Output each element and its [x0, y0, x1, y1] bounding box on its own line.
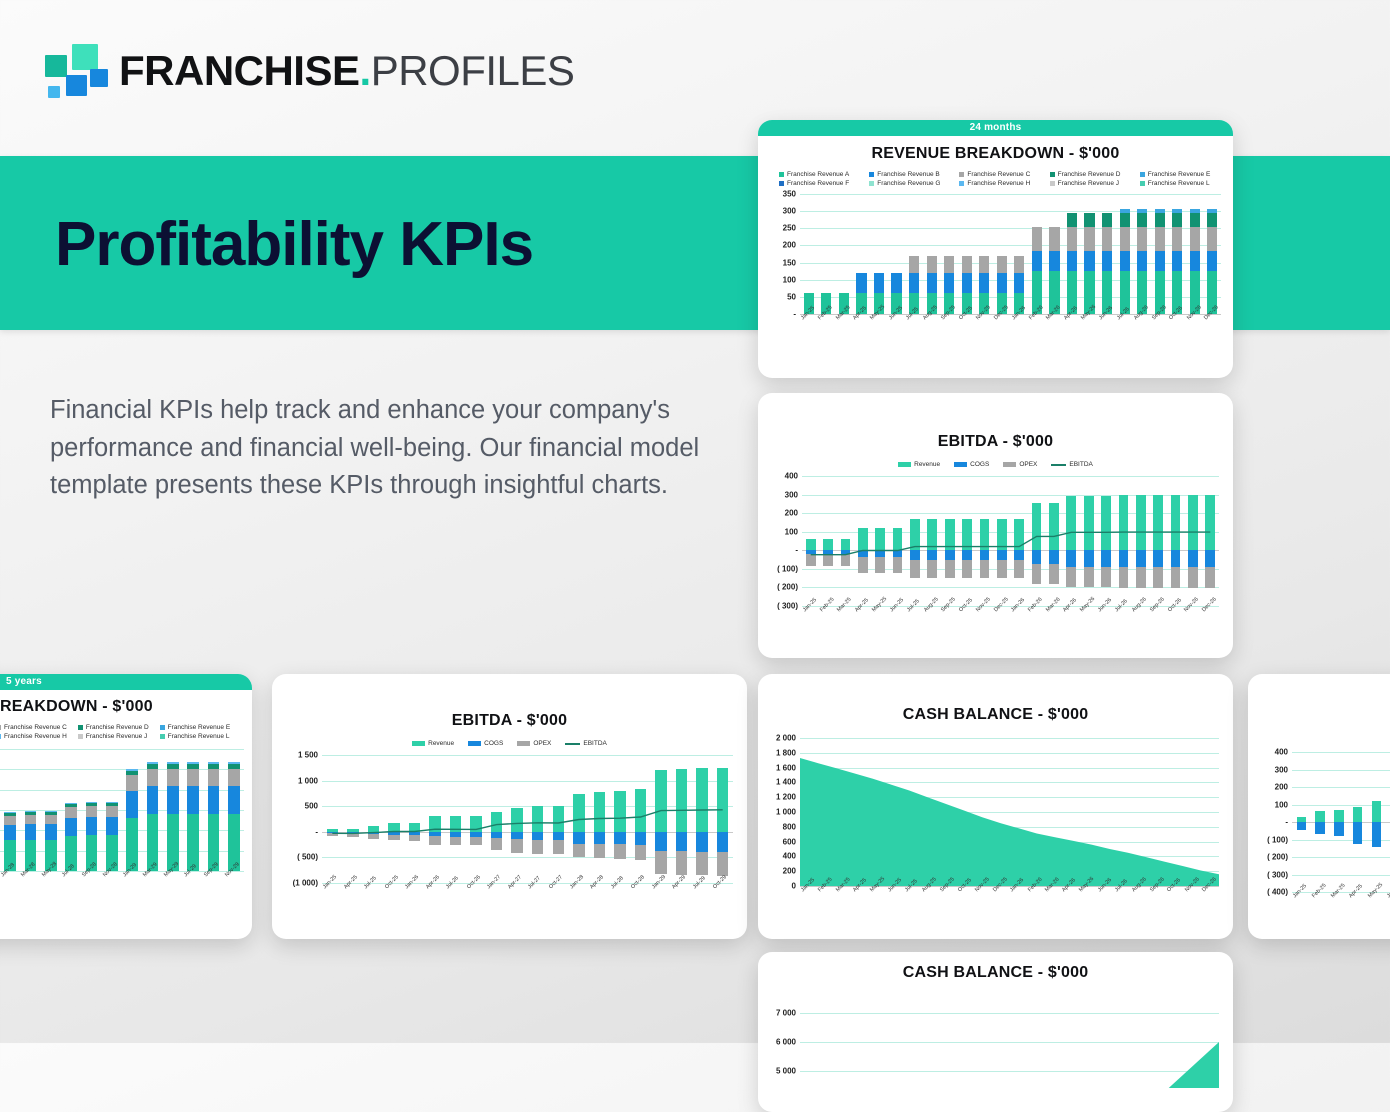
bar-column	[870, 194, 888, 314]
bar-segment	[86, 806, 98, 817]
legend-item: Revenue	[412, 740, 454, 747]
brand-logo: FRANCHISE.PROFILES	[45, 42, 574, 100]
bar-segment	[909, 256, 919, 273]
bar-segment	[167, 769, 179, 786]
bar-segment	[979, 273, 989, 293]
legend-ebitda-24m: RevenueCOGSOPEXEBITDA	[758, 461, 1233, 468]
legend-item: Franchise Revenue E	[1131, 171, 1221, 178]
bar-column	[20, 749, 40, 871]
bar-segment	[909, 273, 919, 293]
card-cash-balance-24m[interactable]: CASH BALANCE - $'000 02004006008001 0001…	[758, 674, 1233, 939]
y-axis-tick-label: 250	[783, 224, 796, 233]
legend-swatch-icon	[1140, 181, 1145, 186]
bar-segment	[1172, 213, 1182, 227]
y-axis-tick-label: 400	[1275, 748, 1288, 757]
bar-segment	[1067, 227, 1077, 252]
card-ebitda-5y[interactable]: EBITDA - $'000 RevenueCOGSOPEXEBITDA (1 …	[272, 674, 747, 939]
logo-squares-icon	[45, 42, 105, 100]
bar-column	[1116, 194, 1134, 314]
brand-name-light: PROFILES	[371, 47, 575, 94]
legend-label: EBITDA	[1069, 461, 1092, 468]
bar-column	[1311, 752, 1330, 892]
y-axis-tick-label: -	[315, 827, 318, 836]
bar-segment	[147, 786, 159, 814]
legend-item: Franchise Revenue C	[950, 171, 1040, 178]
legend-swatch-icon	[869, 172, 874, 177]
y-axis-tick-label: ( 400)	[1267, 888, 1288, 897]
y-axis-tick-label: 300	[785, 490, 798, 499]
legend-label: Franchise Revenue E	[168, 724, 231, 731]
legend-label: COGS	[484, 740, 503, 747]
legend-item: Franchise Revenue D	[1041, 171, 1131, 178]
legend-item: OPEX	[1003, 461, 1037, 468]
legend-swatch-icon	[160, 725, 165, 730]
y-axis-tick-label: 2 000	[776, 734, 796, 743]
x-axis-labels: Jan-25Feb-25Mar-25Apr-25May-25Jun-25Jul-…	[1292, 895, 1390, 901]
y-axis-tick-label: 1 800	[776, 748, 796, 757]
bar-column	[224, 749, 244, 871]
bar-series	[1292, 752, 1390, 892]
legend-item: Franchise Revenue L	[160, 733, 242, 740]
legend-swatch-icon	[898, 462, 911, 467]
legend-label: Franchise Revenue D	[86, 724, 149, 731]
bar-segment	[106, 806, 118, 817]
bar-column	[853, 194, 871, 314]
legend-swatch-icon	[160, 734, 165, 739]
legend-item: Franchise Revenue C	[0, 724, 78, 731]
legend-label: Franchise Revenue F	[787, 180, 849, 187]
bar-column	[41, 749, 61, 871]
bar-segment	[126, 775, 138, 791]
y-axis-tick-label: 200	[783, 867, 796, 876]
bar-segment-negative	[1297, 822, 1306, 830]
x-axis-labels: Jan-27Mar-27May-27Jul-27Sep-27Nov-27Jan-…	[0, 874, 244, 880]
legend-label: Franchise Revenue L	[168, 733, 230, 740]
legend-label: Revenue	[428, 740, 454, 747]
card-ebitda-24m[interactable]: EBITDA - $'000 RevenueCOGSOPEXEBITDA ( 3…	[758, 393, 1233, 658]
bar-column	[958, 194, 976, 314]
y-axis-tick-label: 150	[783, 258, 796, 267]
legend-ebitda-5y: RevenueCOGSOPEXEBITDA	[272, 740, 747, 747]
bar-segment	[1120, 251, 1130, 271]
legend-item: Franchise Revenue E	[160, 724, 242, 731]
plot-ebitda-5y: (1 000)( 500)-5001 0001 500Jan-25Apr-25J…	[322, 755, 733, 883]
bar-segment	[167, 786, 179, 814]
brand-wordmark: FRANCHISE.PROFILES	[119, 50, 574, 92]
bar-segment	[1084, 251, 1094, 271]
chart-title-cash-5y: CASH BALANCE - $'000	[758, 964, 1233, 982]
legend-item: Franchise Revenue L	[1131, 180, 1221, 187]
legend-label: Franchise Revenue C	[4, 724, 67, 731]
bar-segment	[1014, 273, 1024, 293]
bar-segment	[1190, 251, 1200, 271]
legend-revenue-5y: Franchise Revenue CFranchise Revenue DFr…	[0, 723, 244, 741]
bar-column	[1367, 752, 1386, 892]
bar-segment-negative	[1372, 822, 1381, 847]
y-axis-tick-label: 400	[785, 472, 798, 481]
legend-swatch-icon	[869, 181, 874, 186]
bar-column	[1330, 752, 1349, 892]
legend-swatch-icon	[468, 741, 481, 746]
bar-segment	[962, 273, 972, 293]
legend-swatch-icon	[1050, 181, 1055, 186]
legend-label: Franchise Revenue B	[877, 171, 940, 178]
legend-item: Franchise Revenue F	[770, 180, 860, 187]
y-axis-tick-label: 1 200	[776, 793, 796, 802]
y-axis-tick-label: 200	[785, 509, 798, 518]
bar-segment	[1155, 227, 1165, 252]
bar-segment	[997, 273, 1007, 293]
bar-segment	[1032, 251, 1042, 271]
bar-segment	[1155, 251, 1165, 271]
y-axis-tick-label: 1 000	[776, 808, 796, 817]
legend-item: EBITDA	[565, 740, 606, 747]
chart-title-cash-24m: CASH BALANCE - $'000	[758, 706, 1233, 724]
chart-title-ebitda-5y: EBITDA - $'000	[272, 712, 747, 730]
bar-segment	[927, 273, 937, 293]
bar-column	[1204, 194, 1222, 314]
bar-column	[940, 194, 958, 314]
ebitda-line-series	[322, 755, 733, 883]
y-axis-tick-label: 400	[783, 852, 796, 861]
bar-segment	[979, 256, 989, 273]
legend-item: COGS	[954, 461, 989, 468]
legend-item: Franchise Revenue J	[1041, 180, 1131, 187]
legend-item: Franchise Revenue H	[950, 180, 1040, 187]
y-axis-tick-label: -	[1285, 818, 1288, 827]
bar-column	[81, 749, 101, 871]
y-axis-tick-label: ( 300)	[777, 602, 798, 611]
y-axis-tick-label: 6 000	[776, 1038, 796, 1047]
bar-column	[163, 749, 183, 871]
y-axis-tick-label: 1 500	[298, 751, 318, 760]
plot-cash-24m: 02004006008001 0001 2001 4001 6001 8002 …	[800, 738, 1219, 886]
bar-column	[975, 194, 993, 314]
y-axis-tick-label: ( 100)	[777, 564, 798, 573]
bar-segment	[65, 807, 77, 818]
legend-swatch-icon	[565, 743, 580, 745]
bar-segment	[126, 791, 138, 818]
chart-title-revenue-24m: REVENUE BREAKDOWN - $'000	[758, 145, 1233, 163]
legend-item: Franchise Revenue A	[770, 171, 860, 178]
bar-column	[1081, 194, 1099, 314]
bar-column	[1386, 752, 1390, 892]
bar-segment	[25, 824, 37, 840]
brand-name-bold: FRANCHISE	[119, 47, 360, 94]
bar-segment	[45, 824, 57, 840]
bar-column	[1063, 194, 1081, 314]
card-revenue-breakdown-5y[interactable]: 5 years REAKDOWN - $'000 Franchise Reven…	[0, 674, 252, 939]
bar-segment	[856, 273, 866, 293]
y-axis-tick-label: 200	[1275, 783, 1288, 792]
bar-segment	[208, 786, 220, 814]
y-axis-tick-label: 600	[783, 837, 796, 846]
bar-column	[1348, 752, 1367, 892]
bar-segment	[4, 825, 16, 840]
bar-segment	[208, 769, 220, 786]
legend-label: Franchise Revenue D	[1058, 171, 1121, 178]
legend-item: Franchise Revenue G	[860, 180, 950, 187]
legend-swatch-icon	[78, 734, 83, 739]
bar-column	[818, 194, 836, 314]
legend-label: Franchise Revenue H	[4, 733, 67, 740]
legend-label: Franchise Revenue E	[1148, 171, 1211, 178]
y-axis-tick-label: 300	[783, 207, 796, 216]
bar-segment	[65, 818, 77, 836]
bar-column	[203, 749, 223, 871]
bar-segment	[1120, 227, 1130, 252]
legend-label: OPEX	[1019, 461, 1037, 468]
bar-column	[1133, 194, 1151, 314]
legend-swatch-icon	[779, 172, 784, 177]
y-axis-tick-label: 100	[783, 275, 796, 284]
legend-item: EBITDA	[1051, 461, 1092, 468]
legend-label: Franchise Revenue J	[86, 733, 147, 740]
legend-swatch-icon	[0, 734, 1, 739]
plot-revenue-24m: -50100150200250300350Jan-25Feb-25Mar-25A…	[800, 194, 1221, 314]
legend-label: Franchise Revenue L	[1148, 180, 1210, 187]
bar-segment	[997, 256, 1007, 273]
x-axis-labels: Jan-25Apr-25Jul-25Oct-25Jan-26Apr-26Jul-…	[322, 886, 733, 892]
chart-title-ebitda-24m: EBITDA - $'000	[758, 433, 1233, 451]
bar-column	[1292, 752, 1311, 892]
legend-swatch-icon	[954, 462, 967, 467]
bar-segment	[228, 786, 240, 814]
plot-ebitda-24m: ( 300)( 200)( 100)-100200300400Jan-25Feb…	[802, 476, 1219, 606]
legend-swatch-icon	[1003, 462, 1016, 467]
bar-segment	[1172, 227, 1182, 252]
bar-segment	[1102, 213, 1112, 227]
y-axis-tick-label: 350	[783, 190, 796, 199]
bar-column	[993, 194, 1011, 314]
legend-swatch-icon	[517, 741, 530, 746]
bar-segment	[927, 256, 937, 273]
x-axis-labels: Jan-25Feb-25Mar-25Apr-25May-25Jun-25Jul-…	[800, 889, 1219, 895]
y-axis-tick-label: ( 300)	[1267, 870, 1288, 879]
y-axis-tick-label: -	[795, 546, 798, 555]
x-axis-labels: Jan-25Feb-25Mar-25Apr-25May-25Jun-25Jul-…	[802, 609, 1219, 615]
legend-item: Franchise Revenue J	[78, 733, 160, 740]
bar-series	[0, 749, 244, 871]
bar-column	[61, 749, 81, 871]
bar-segment	[1084, 213, 1094, 227]
bar-column	[835, 194, 853, 314]
y-axis-tick-label: 7 000	[776, 1008, 796, 1017]
y-axis-tick-label: 50	[787, 292, 796, 301]
legend-swatch-icon	[1050, 172, 1055, 177]
bar-column	[1186, 194, 1204, 314]
bar-column	[142, 749, 162, 871]
y-axis-tick-label: ( 100)	[1267, 835, 1288, 844]
area-series	[800, 738, 1219, 886]
y-axis-tick-label: ( 200)	[777, 583, 798, 592]
legend-item: OPEX	[517, 740, 551, 747]
legend-swatch-icon	[779, 181, 784, 186]
card-strip-label-5y: 5 years	[0, 674, 252, 690]
bar-segment	[187, 786, 199, 814]
bar-column	[1168, 194, 1186, 314]
bar-column	[1046, 194, 1064, 314]
legend-swatch-icon	[1140, 172, 1145, 177]
legend-item: Franchise Revenue D	[78, 724, 160, 731]
bar-segment-negative	[1353, 822, 1362, 844]
legend-item: Franchise Revenue B	[860, 171, 950, 178]
bar-segment	[1207, 251, 1217, 271]
x-axis-labels: Jan-25Feb-25Mar-25Apr-25May-25Jun-25Jul-…	[800, 317, 1221, 323]
legend-label: Franchise Revenue G	[877, 180, 940, 187]
y-axis-tick-label: -	[793, 310, 796, 319]
bar-column	[1011, 194, 1029, 314]
y-axis-tick-label: 1 400	[776, 778, 796, 787]
y-axis-tick-label: 200	[783, 241, 796, 250]
legend-swatch-icon	[0, 725, 1, 730]
legend-label: Franchise Revenue A	[787, 171, 849, 178]
card-revenue-breakdown-24m[interactable]: 24 months REVENUE BREAKDOWN - $'000 Fran…	[758, 120, 1233, 378]
bar-segment	[1067, 213, 1077, 227]
bar-segment	[1014, 256, 1024, 273]
bar-segment	[891, 273, 901, 293]
bar-segment	[228, 769, 240, 786]
bar-segment-negative	[1334, 822, 1343, 836]
legend-label: COGS	[970, 461, 989, 468]
plot-revenue-5y: Jan-27Mar-27May-27Jul-27Sep-27Nov-27Jan-…	[0, 749, 244, 871]
bar-segment	[1102, 227, 1112, 252]
bar-segment	[1137, 251, 1147, 271]
bar-segment	[187, 769, 199, 786]
bar-column	[1151, 194, 1169, 314]
legend-swatch-icon	[1051, 464, 1066, 466]
bar-column	[102, 749, 122, 871]
card-strip-label: 24 months	[758, 120, 1233, 136]
plot-opex: ( 400)( 300)( 200)( 100)-100200300400Jan…	[1292, 752, 1390, 892]
intro-paragraph: Financial KPIs help track and enhance yo…	[50, 392, 710, 505]
legend-label: Franchise Revenue C	[967, 171, 1030, 178]
bar-segment	[1172, 251, 1182, 271]
bar-segment-positive	[1315, 811, 1324, 822]
chart-title-opex: OPE	[1248, 720, 1390, 736]
chart-title-revenue-5y: REAKDOWN - $'000	[0, 698, 252, 716]
legend-label: EBITDA	[583, 740, 606, 747]
legend-label: Franchise Revenue J	[1058, 180, 1119, 187]
y-axis-tick-label: 500	[305, 802, 318, 811]
bar-segment	[86, 817, 98, 835]
y-axis-tick-label: 5 000	[776, 1067, 796, 1076]
bar-segment	[1137, 227, 1147, 252]
bar-segment	[106, 817, 118, 835]
legend-item: Franchise Revenue H	[0, 733, 78, 740]
legend-swatch-icon	[412, 741, 425, 746]
brand-dot: .	[360, 47, 371, 94]
bar-column	[800, 194, 818, 314]
legend-item: COGS	[468, 740, 503, 747]
legend-swatch-icon	[78, 725, 83, 730]
bar-segment	[1084, 227, 1094, 252]
bar-column	[923, 194, 941, 314]
bar-segment	[1102, 251, 1112, 271]
bar-segment	[1120, 213, 1130, 227]
bar-segment	[944, 256, 954, 273]
bar-segment	[1207, 227, 1217, 252]
bar-segment	[1207, 213, 1217, 227]
bar-segment	[1190, 227, 1200, 252]
legend-label: Franchise Revenue H	[967, 180, 1030, 187]
bar-segment	[25, 815, 37, 825]
bar-segment	[147, 769, 159, 786]
card-cash-balance-5y[interactable]: CASH BALANCE - $'000 7 0006 0005 000	[758, 952, 1233, 1112]
y-axis-tick-label: 100	[1275, 800, 1288, 809]
bar-column	[122, 749, 142, 871]
bar-segment	[1155, 213, 1165, 227]
legend-label: OPEX	[533, 740, 551, 747]
y-axis-tick-label: 1 600	[776, 763, 796, 772]
bar-segment-negative	[1315, 822, 1324, 834]
bar-segment-positive	[1334, 810, 1343, 822]
y-axis-tick-label: ( 200)	[1267, 853, 1288, 862]
ebitda-line-series	[802, 476, 1219, 606]
bar-segment-positive	[1353, 807, 1362, 822]
card-opex[interactable]: OPE ( 400)( 300)( 200)( 100)-10020030040…	[1248, 674, 1390, 939]
bar-segment	[1137, 213, 1147, 227]
legend-revenue-24m: Franchise Revenue AFranchise Revenue BFr…	[770, 170, 1221, 188]
y-axis-tick-label: (1 000)	[293, 879, 318, 888]
bar-segment	[1032, 227, 1042, 252]
bar-segment	[1049, 251, 1059, 271]
bar-column	[888, 194, 906, 314]
bar-segment	[4, 816, 16, 825]
bar-column	[183, 749, 203, 871]
bar-column	[1028, 194, 1046, 314]
legend-label: Revenue	[914, 461, 940, 468]
y-axis-tick-label: ( 500)	[297, 853, 318, 862]
y-axis-tick-label: 0	[792, 882, 796, 891]
bar-column	[905, 194, 923, 314]
y-axis-tick-label: 100	[785, 527, 798, 536]
y-axis-tick-label: 300	[1275, 765, 1288, 774]
bar-column	[1098, 194, 1116, 314]
legend-item: Revenue	[898, 461, 940, 468]
bar-series	[800, 194, 1221, 314]
legend-swatch-icon	[959, 172, 964, 177]
bar-segment	[1067, 251, 1077, 271]
plot-cash-5y: 7 0006 0005 000	[800, 996, 1219, 1088]
bar-segment	[962, 256, 972, 273]
bar-segment-positive	[1372, 801, 1381, 822]
bar-segment	[874, 273, 884, 293]
bar-segment	[45, 815, 57, 825]
page-title: Profitability KPIs	[55, 214, 533, 276]
y-axis-tick-label: 1 000	[298, 776, 318, 785]
bar-segment	[1190, 213, 1200, 227]
area-series	[800, 996, 1219, 1088]
bar-column	[0, 749, 20, 871]
bar-segment	[1049, 227, 1059, 252]
legend-swatch-icon	[959, 181, 964, 186]
y-axis-tick-label: 800	[783, 822, 796, 831]
bar-segment	[944, 273, 954, 293]
